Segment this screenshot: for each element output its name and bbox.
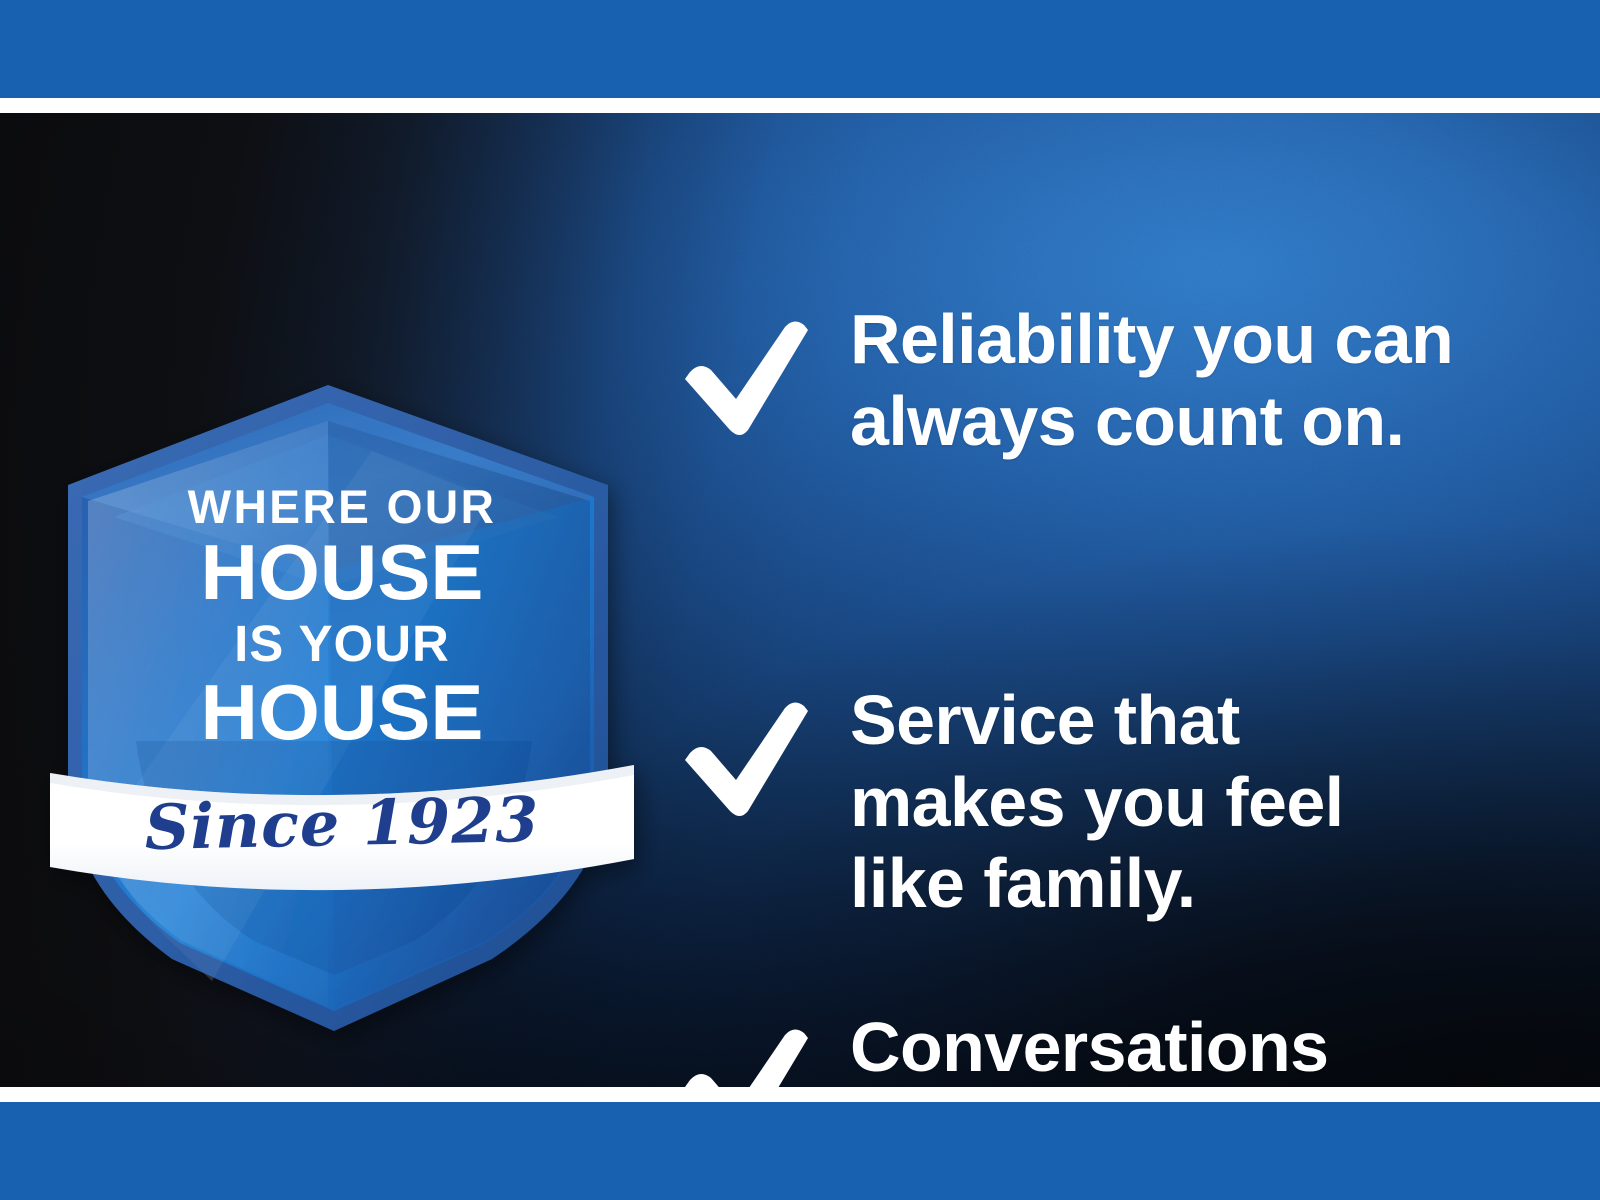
benefit-item-1: Reliability you can always count on. — [672, 299, 1552, 462]
bottom-brand-bar — [0, 1102, 1600, 1200]
benefit-text-3: Conversations that feel like home. — [850, 1007, 1552, 1087]
benefit-text-2: Service that makes you feel like family. — [850, 680, 1552, 925]
checkmark-icon — [678, 321, 810, 441]
checkmark-icon — [678, 702, 810, 822]
benefit-text-1: Reliability you can always count on. — [850, 299, 1552, 462]
main-panel: WHERE OUR HOUSE IS YOUR HOUSE Since 1923… — [0, 113, 1600, 1087]
benefit-item-2: Service that makes you feel like family. — [672, 680, 1552, 925]
checkmark-icon — [678, 1029, 810, 1087]
promo-graphic: WHERE OUR HOUSE IS YOUR HOUSE Since 1923… — [0, 0, 1600, 1200]
shield-badge: WHERE OUR HOUSE IS YOUR HOUSE Since 1923 — [62, 381, 622, 1041]
benefit-item-3: Conversations that feel like home. — [672, 1007, 1552, 1087]
top-brand-bar — [0, 0, 1600, 98]
benefits-list: Reliability you can always count on. Ser… — [672, 299, 1552, 951]
